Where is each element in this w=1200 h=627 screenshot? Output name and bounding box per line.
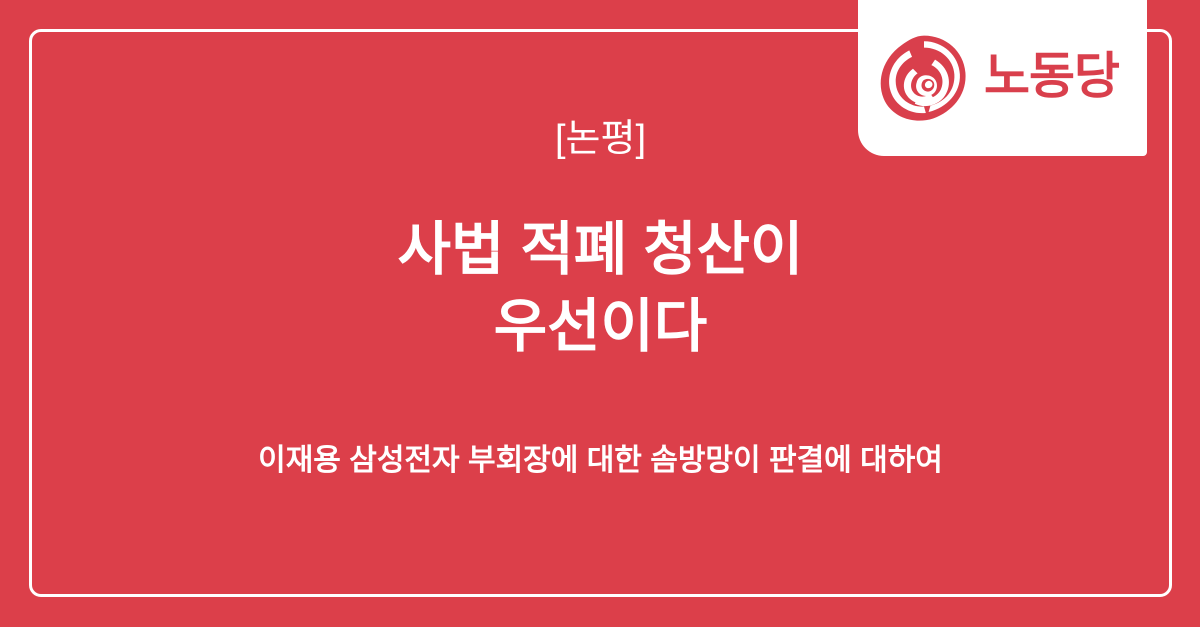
- party-logo-wordmark: 노동당: [984, 51, 1119, 105]
- rose-logo-icon: [878, 32, 970, 124]
- party-logo-plate: 노동당: [858, 0, 1147, 156]
- kicker-label: [논평]: [555, 119, 646, 161]
- page-subtitle: 이재용 삼성전자 부회장에 대한 솜방망이 판결에 대하여: [258, 443, 943, 479]
- page-title: 사법 적폐 청산이 우선이다: [398, 211, 804, 365]
- page-title-line-1: 사법 적폐 청산이: [398, 211, 804, 288]
- poster-card: 노동당 [논평] 사법 적폐 청산이 우선이다 이재용 삼성전자 부회장에 대한…: [0, 0, 1200, 627]
- page-title-line-2: 우선이다: [398, 288, 804, 365]
